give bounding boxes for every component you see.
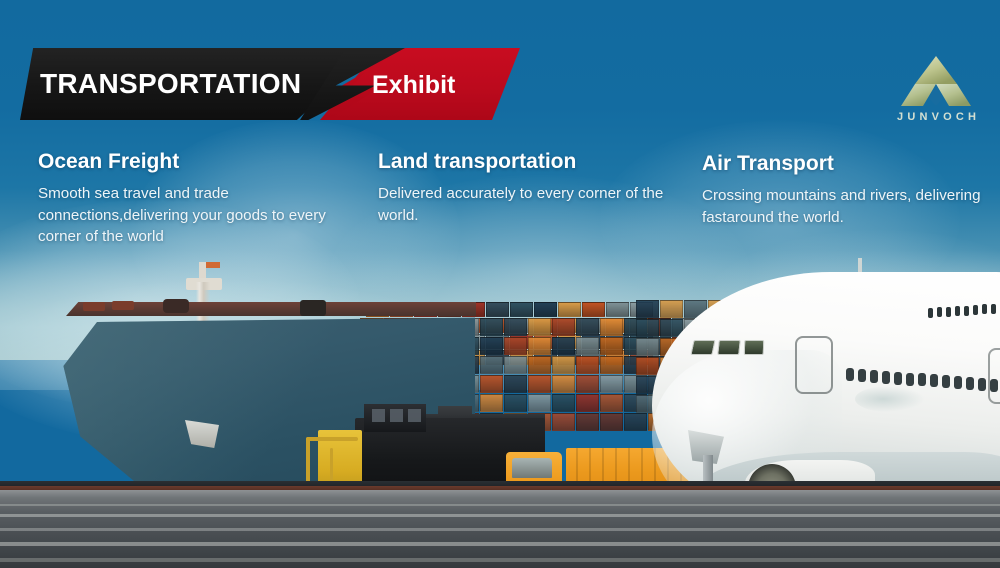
shipping-container [528,394,551,412]
shipping-container [552,413,575,431]
plane-window [858,369,866,382]
ground-line [0,504,1000,506]
column-heading: Land transportation [378,150,668,174]
shipping-container [636,357,659,375]
shipping-container [576,413,599,431]
shipping-container [504,318,527,336]
shipping-container [600,337,623,355]
ship-winch [163,299,189,313]
shipping-container [528,318,551,336]
plane-window [846,368,854,381]
plane-window-upper [991,304,996,314]
shipping-container [486,302,509,317]
locomotive-window [390,409,403,422]
shipping-container [480,356,503,374]
shipping-container [534,302,557,317]
shipping-container [636,300,659,318]
ground-line [0,528,1000,531]
plane-door [988,348,1000,404]
column-heading: Ocean Freight [38,150,338,174]
locomotive-window [372,409,385,422]
shipping-container [600,318,623,336]
shipping-container [576,337,599,355]
shipping-container [480,394,503,412]
shipping-container [576,356,599,374]
column-body: Smooth sea travel and trade connections,… [38,183,338,248]
plane-window-upper [982,304,987,314]
banner-title: TRANSPORTATION [40,60,330,108]
cockpit-window [690,340,715,355]
shipping-container [504,337,527,355]
shipping-container [636,338,659,356]
shipping-container [558,302,581,317]
plane-window [918,373,926,386]
shipping-container [576,375,599,393]
shipping-container [552,337,575,355]
plane-window-upper [964,306,969,316]
triangle-v-logo-icon [893,54,979,108]
plane-window [990,379,998,392]
locomotive-handrail [306,437,358,441]
shipping-container [576,394,599,412]
shipping-container [504,356,527,374]
feature-column-ocean-freight: Ocean Freight Smooth sea travel and trad… [38,150,338,248]
locomotive-window [408,409,421,422]
cockpit-window [717,340,741,355]
ground-line [0,558,1000,562]
shipping-container [480,375,503,393]
plane-window [894,372,902,385]
plane-livery-mark [855,386,925,412]
plane-window [882,371,890,384]
truck-windshield [512,458,552,478]
runway-ground [0,490,1000,568]
feature-column-air-transport: Air Transport Crossing mountains and riv… [702,152,992,228]
shipping-container [600,394,623,412]
plane-door [795,336,833,394]
shipping-container [636,319,659,337]
feature-column-land-transportation: Land transportation Delivered accurately… [378,150,668,226]
plane-window [906,373,914,386]
shipping-container [600,375,623,393]
shipping-container [576,318,599,336]
plane-window-upper [955,306,960,316]
plane-window-upper [946,307,951,317]
ship-bollard [112,301,134,310]
shipping-container [660,300,683,318]
shipping-container [480,318,503,336]
brand-name: JUNVOCH [893,111,979,123]
ship-winch [300,300,326,316]
column-body: Delivered accurately to every corner of … [378,183,668,226]
shipping-container [552,318,575,336]
ground-line [0,542,1000,546]
shipping-container [528,375,551,393]
plane-window-upper [937,307,942,317]
shipping-container [606,302,629,317]
shipping-container [528,356,551,374]
shipping-container [504,394,527,412]
shipping-container [552,394,575,412]
cockpit-window [744,340,765,355]
shipping-container [528,337,551,355]
plane-window-upper [928,308,933,318]
plane-window [954,376,962,389]
shipping-container [552,375,575,393]
shipping-container [480,337,503,355]
ground-line [0,514,1000,517]
column-body: Crossing mountains and rivers, deliverin… [702,185,992,228]
plane-window [978,378,986,391]
shipping-container [600,413,623,431]
shipping-container [552,356,575,374]
plane-window [870,370,878,383]
banner-subtitle: Exhibit [372,62,532,108]
shipping-container [600,356,623,374]
plane-window [942,375,950,388]
shipping-container [582,302,605,317]
shipping-container [624,413,647,431]
column-heading: Air Transport [702,152,992,176]
transportation-banner: TRANSPORTATION Exhibit JUNVOCH [0,0,1000,568]
plane-window [930,374,938,387]
mast-flag [206,262,220,268]
plane-window-upper [973,305,978,315]
plane-window [966,377,974,390]
shipping-container [510,302,533,317]
ship-bollard [83,302,105,311]
shipping-container [504,375,527,393]
brand-logo[interactable]: JUNVOCH [893,54,979,130]
